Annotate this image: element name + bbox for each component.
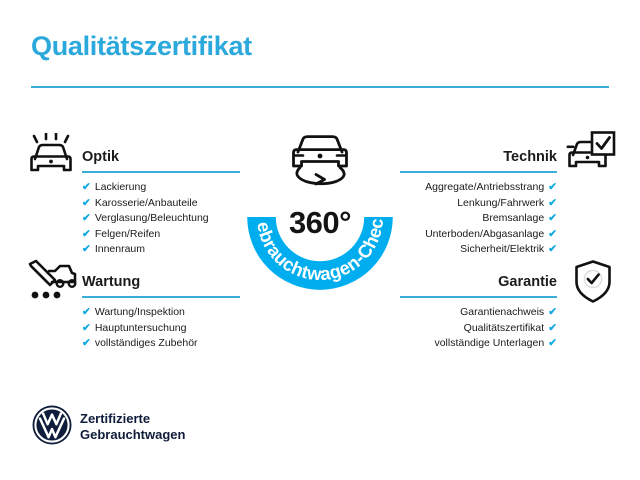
checklist-garantie: Garantienachweis✔ Qualitätszertifikat✔ v… [400,305,557,352]
list-item: ✔Lackierung [82,180,209,196]
list-item-label: vollständiges Zubehör [95,337,198,349]
car-front-checkbox-icon [566,131,616,180]
section-divider-wartung [82,296,240,298]
check-icon: ✔ [548,306,557,318]
section-heading-optik: Optik [82,150,119,165]
checklist-optik: ✔Lackierung ✔Karosserie/Anbauteile ✔Verg… [82,180,209,258]
list-item-label: vollständige Unterlagen [434,337,544,349]
footer-line-2: Gebrauchtwagen [80,427,185,443]
list-item-label: Felgen/Reifen [95,228,160,240]
list-item-label: Lenkung/Fahrwerk [457,197,544,209]
list-item: ✔Felgen/Reifen [82,227,209,243]
section-heading-technik: Technik [503,150,557,165]
check-icon: ✔ [548,197,557,209]
badge-360-gebrauchtwagen-check: Gebrauchtwagen-Check 360° [233,130,407,304]
list-item: ✔Innenraum [82,242,209,258]
check-icon: ✔ [548,322,557,334]
list-item: ✔Verglasung/Beleuchtung [82,211,209,227]
list-item: ✔Hauptuntersuchung [82,321,198,337]
list-item: Lenkung/Fahrwerk✔ [400,196,557,212]
list-item: ✔vollständiges Zubehör [82,336,198,352]
header-divider [31,86,609,88]
list-item-label: Karosserie/Anbauteile [95,197,198,209]
footer-line-1: Zertifizierte [80,411,185,427]
list-item: Bremsanlage✔ [400,211,557,227]
list-item-label: Qualitätszertifikat [464,322,545,334]
check-icon: ✔ [82,181,91,193]
check-icon: ✔ [82,228,91,240]
wrench-car-icon [22,258,80,311]
vw-logo [31,404,73,451]
list-item-label: Verglasung/Beleuchtung [95,212,209,224]
check-icon: ✔ [82,197,91,209]
list-item-label: Sicherheit/Elektrik [460,243,544,255]
list-item-label: Unterboden/Abgasanlage [425,228,544,240]
section-heading-wartung: Wartung [82,275,140,290]
car-front-shine-icon [25,133,77,182]
list-item: Unterboden/Abgasanlage✔ [400,227,557,243]
list-item: Garantienachweis✔ [400,305,557,321]
check-icon: ✔ [82,212,91,224]
car-rotate-360-icon [280,126,360,193]
check-icon: ✔ [548,337,557,349]
list-item: ✔Karosserie/Anbauteile [82,196,209,212]
section-heading-garantie: Garantie [498,275,557,290]
check-icon: ✔ [82,306,91,318]
list-item-label: Aggregate/Antriebsstrang [425,181,544,193]
list-item-label: Hauptuntersuchung [95,322,187,334]
list-item-label: Bremsanlage [482,212,544,224]
list-item: vollständige Unterlagen✔ [400,336,557,352]
check-icon: ✔ [82,243,91,255]
check-icon: ✔ [548,212,557,224]
list-item-label: Lackierung [95,181,146,193]
certificate-page: Qualitätszertifikat Optik ✔Lackierung ✔K… [0,0,640,480]
check-icon: ✔ [548,181,557,193]
page-title: Qualitätszertifikat [31,33,252,60]
list-item-label: Garantienachweis [460,306,544,318]
list-item: Qualitätszertifikat✔ [400,321,557,337]
list-item: ✔Wartung/Inspektion [82,305,198,321]
check-icon: ✔ [82,322,91,334]
list-item-label: Innenraum [95,243,145,255]
checklist-technik: Aggregate/Antriebsstrang✔ Lenkung/Fahrwe… [400,180,557,258]
section-divider-technik [400,171,557,173]
check-icon: ✔ [548,228,557,240]
check-icon: ✔ [548,243,557,255]
check-icon: ✔ [82,337,91,349]
list-item: Aggregate/Antriebsstrang✔ [400,180,557,196]
checklist-wartung: ✔Wartung/Inspektion ✔Hauptuntersuchung ✔… [82,305,198,352]
section-divider-garantie [400,296,557,298]
list-item: Sicherheit/Elektrik✔ [400,242,557,258]
footer-text: Zertifizierte Gebrauchtwagen [80,411,185,443]
section-divider-optik [82,171,240,173]
list-item-label: Wartung/Inspektion [95,306,185,318]
shield-check-icon [572,259,614,310]
